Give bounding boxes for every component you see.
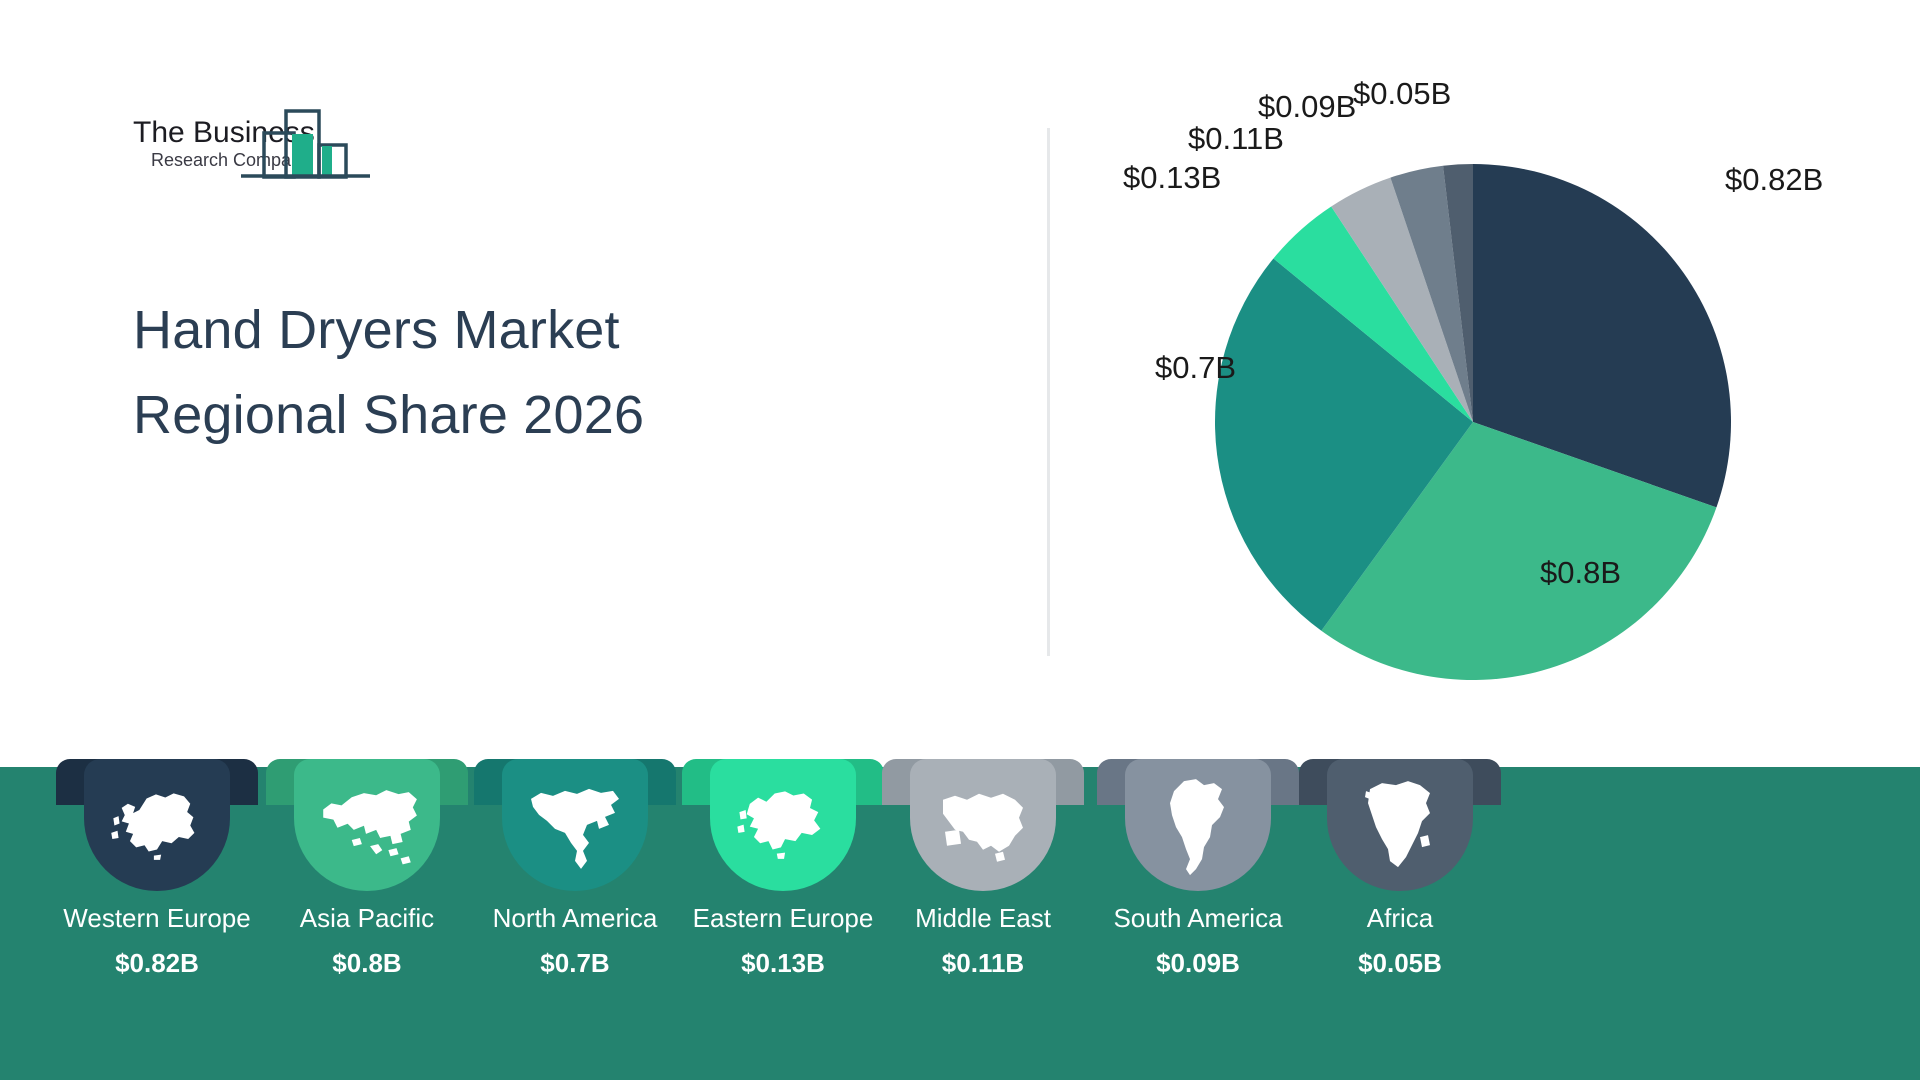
region-badge-shield-6 <box>1327 759 1473 891</box>
south-america-map-icon <box>1160 775 1236 879</box>
region-card-asia-pacific[interactable]: Asia Pacific $0.8B <box>252 745 482 979</box>
page-title-line-2: Regional Share 2026 <box>133 373 893 458</box>
pie-label-0: $0.82B <box>1725 162 1823 197</box>
region-badge <box>668 745 898 885</box>
pie-label-2: $0.7B <box>1155 350 1236 385</box>
region-card-western-europe[interactable]: Western Europe $0.82B <box>42 745 272 979</box>
region-name-1: Asia Pacific <box>252 903 482 934</box>
eastern-europe-map-icon <box>731 785 835 868</box>
region-cards-row: Western Europe $0.82B Asia Pacific $0.8B… <box>0 745 1920 1035</box>
region-card-south-america[interactable]: South America $0.09B <box>1083 745 1313 979</box>
region-badge-shield-5 <box>1125 759 1271 891</box>
region-value-0: $0.82B <box>42 948 272 979</box>
pie-chart-svg: $0.82B$0.8B$0.7B$0.13B$0.11B$0.09B$0.05B <box>1085 60 1875 720</box>
pie-label-3: $0.13B <box>1123 160 1221 195</box>
pie-label-6: $0.05B <box>1353 76 1451 111</box>
region-badge-shield-4 <box>910 759 1056 891</box>
middle-east-map-icon <box>933 784 1033 870</box>
region-badge-shield-0 <box>84 759 230 891</box>
region-name-6: Africa <box>1285 903 1515 934</box>
region-badge <box>42 745 272 885</box>
region-value-5: $0.09B <box>1083 948 1313 979</box>
region-badge <box>1083 745 1313 885</box>
region-badge-shield-3 <box>710 759 856 891</box>
region-badge <box>252 745 482 885</box>
pie-label-1: $0.8B <box>1540 555 1621 590</box>
page-title-line-1: Hand Dryers Market <box>133 288 893 373</box>
region-badge <box>460 745 690 885</box>
pie-label-4: $0.11B <box>1188 121 1284 156</box>
region-name-5: South America <box>1083 903 1313 934</box>
region-value-6: $0.05B <box>1285 948 1515 979</box>
region-name-2: North America <box>460 903 690 934</box>
region-name-3: Eastern Europe <box>668 903 898 934</box>
region-badge <box>868 745 1098 885</box>
region-name-0: Western Europe <box>42 903 272 934</box>
region-card-eastern-europe[interactable]: Eastern Europe $0.13B <box>668 745 898 979</box>
asia-pacific-map-icon <box>311 783 423 871</box>
brand-logo-svg: The Business Research Company <box>133 100 423 186</box>
africa-map-icon <box>1358 775 1442 879</box>
vertical-divider <box>1047 128 1050 656</box>
brand-logo: The Business Research Company <box>133 100 423 186</box>
region-badge <box>1285 745 1515 885</box>
region-value-3: $0.13B <box>668 948 898 979</box>
region-card-north-america[interactable]: North America $0.7B <box>460 745 690 979</box>
region-card-middle-east[interactable]: Middle East $0.11B <box>868 745 1098 979</box>
europe-map-icon <box>105 787 209 866</box>
pie-chart: $0.82B$0.8B$0.7B$0.13B$0.11B$0.09B$0.05B <box>1085 60 1875 720</box>
region-value-4: $0.11B <box>868 948 1098 979</box>
region-value-1: $0.8B <box>252 948 482 979</box>
region-badge-shield-2 <box>502 759 648 891</box>
page-title: Hand Dryers Market Regional Share 2026 <box>133 288 893 459</box>
region-badge-shield-1 <box>294 759 440 891</box>
pie-label-5: $0.09B <box>1258 89 1356 124</box>
pie-slices <box>1215 164 1731 680</box>
region-value-2: $0.7B <box>460 948 690 979</box>
region-name-4: Middle East <box>868 903 1098 934</box>
north-america-map-icon <box>525 781 625 873</box>
region-card-africa[interactable]: Africa $0.05B <box>1285 745 1515 979</box>
